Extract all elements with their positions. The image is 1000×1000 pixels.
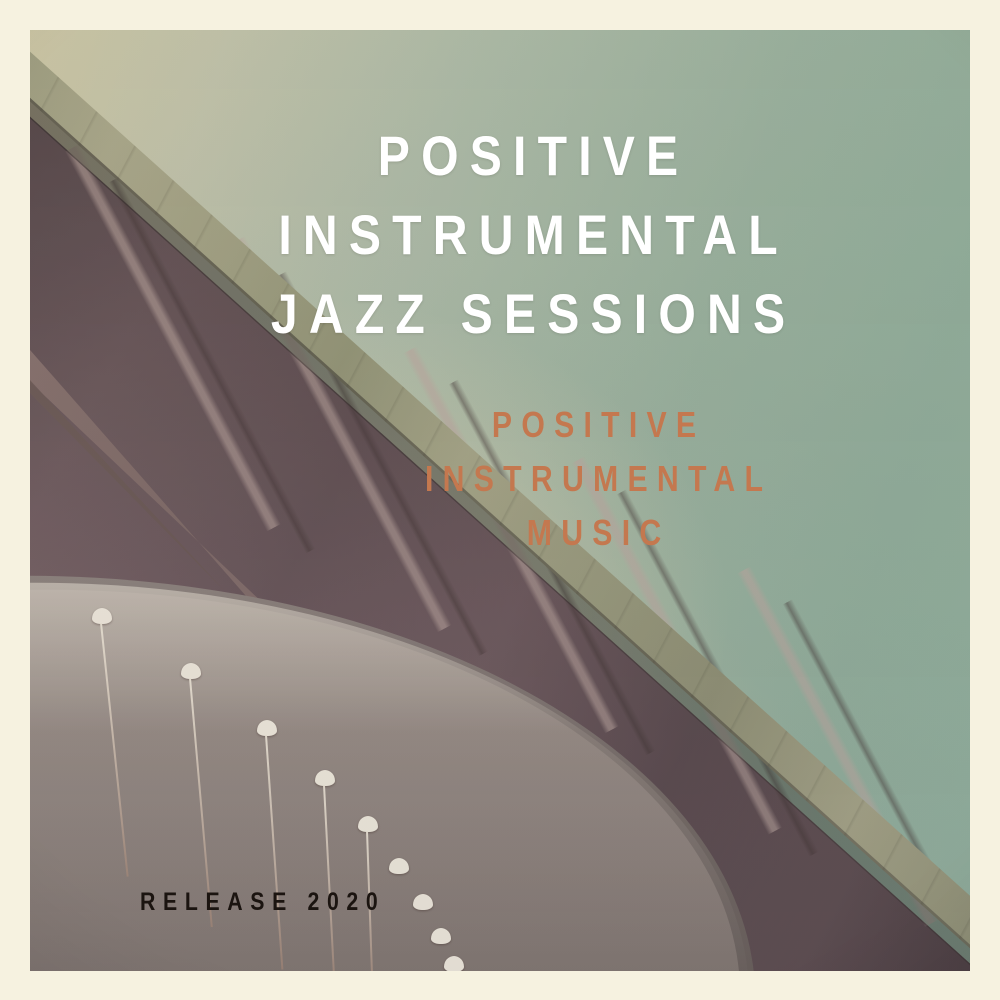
album-cover: POSITIVE INSTRUMENTAL JAZZ SESSIONS POSI… (0, 0, 1000, 1000)
lamp-fixture (315, 770, 335, 786)
lamp-fixture (181, 663, 201, 679)
release-label: RELEASE 2020 (140, 888, 385, 917)
lamp-fixture (431, 928, 451, 944)
lamp-fixture (444, 956, 464, 971)
lamp-fixture (92, 608, 112, 624)
cover-photograph: POSITIVE INSTRUMENTAL JAZZ SESSIONS POSI… (30, 30, 970, 971)
lamp-fixture (358, 816, 378, 832)
lamp-fixture (413, 894, 433, 910)
lamp-fixture (257, 720, 277, 736)
lamp-fixture (389, 858, 409, 874)
